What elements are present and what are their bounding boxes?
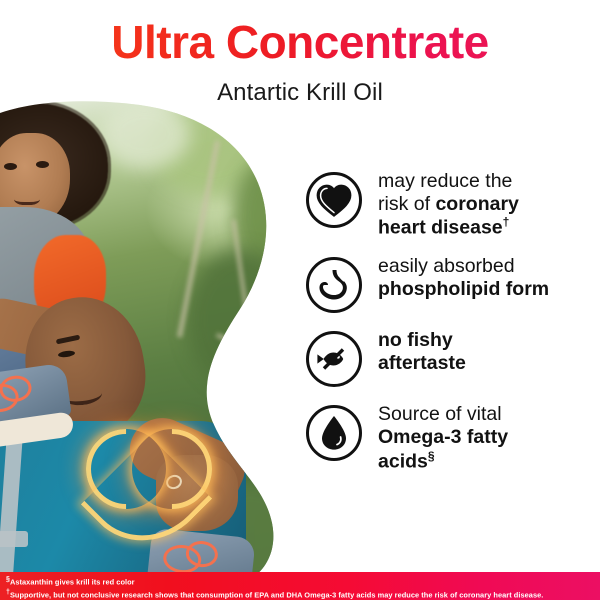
benefit-line-3-bold: acids [378,450,428,472]
benefit-item-coronary-heart-disease: may reduce the risk of coronary heart di… [306,168,592,239]
benefit-line-3-bold: heart disease [378,217,503,239]
benefit-line-2-plain: risk of [378,193,435,215]
footnote-marker-dagger: † [503,215,510,229]
page-title: Ultra Concentrate [0,18,600,66]
benefit-line-1: Source of vital [378,403,502,425]
glowing-heart-light-trail [86,429,214,545]
footnote-line-1: §Astaxanthin gives krill its red color [6,575,594,588]
footnote-line-2: †Supportive, but not conclusive research… [6,588,594,600]
photo-background-forest [0,99,300,572]
benefit-text: no fishy aftertaste [378,327,466,374]
benefit-line-2-bold: coronary [435,193,518,215]
heart-icon [306,172,362,228]
branch [216,333,272,361]
benefit-line-2-bold: aftertaste [378,352,466,374]
benefit-line-2-bold: phospholipid form [378,278,549,300]
branch [231,389,299,411]
foliage-blob [240,349,300,469]
child-eye-right [36,161,49,168]
footnote-marker-section: § [428,449,435,463]
benefits-list: may reduce the risk of coronary heart di… [306,168,592,487]
benefit-item-no-fishy-aftertaste: no fishy aftertaste [306,327,592,387]
backpack-strap-buckle [0,531,28,547]
droplet-icon [306,405,362,461]
benefit-line-1: easily absorbed [378,255,515,277]
footnote-line-1-text: Astaxanthin gives krill its red color [10,577,135,586]
benefit-text: Source of vital Omega-3 fatty acids§ [378,401,508,472]
child-shoe-left [0,363,75,450]
lifestyle-photo [0,99,300,572]
benefit-line-1-bold: no fishy [378,329,453,351]
benefit-text: easily absorbed phospholipid form [378,253,549,300]
footnote-bar: §Astaxanthin gives krill its red color †… [0,572,600,600]
benefit-item-phospholipid-form: easily absorbed phospholipid form [306,253,592,313]
footnote-line-2-text: Supportive, but not conclusive research … [10,591,543,600]
stomach-icon [306,257,362,313]
benefit-item-omega-3-fatty-acids: Source of vital Omega-3 fatty acids§ [306,401,592,472]
child-smile [14,191,40,205]
no-fish-icon [306,331,362,387]
foliage-blob [100,99,190,169]
product-benefits-card: Ultra Concentrate Antartic Krill Oil [0,0,600,600]
benefit-line-1: may reduce the [378,170,512,192]
child-eye-left [4,163,17,170]
benefit-text: may reduce the risk of coronary heart di… [378,168,519,239]
benefit-line-2-bold: Omega-3 fatty [378,426,508,448]
